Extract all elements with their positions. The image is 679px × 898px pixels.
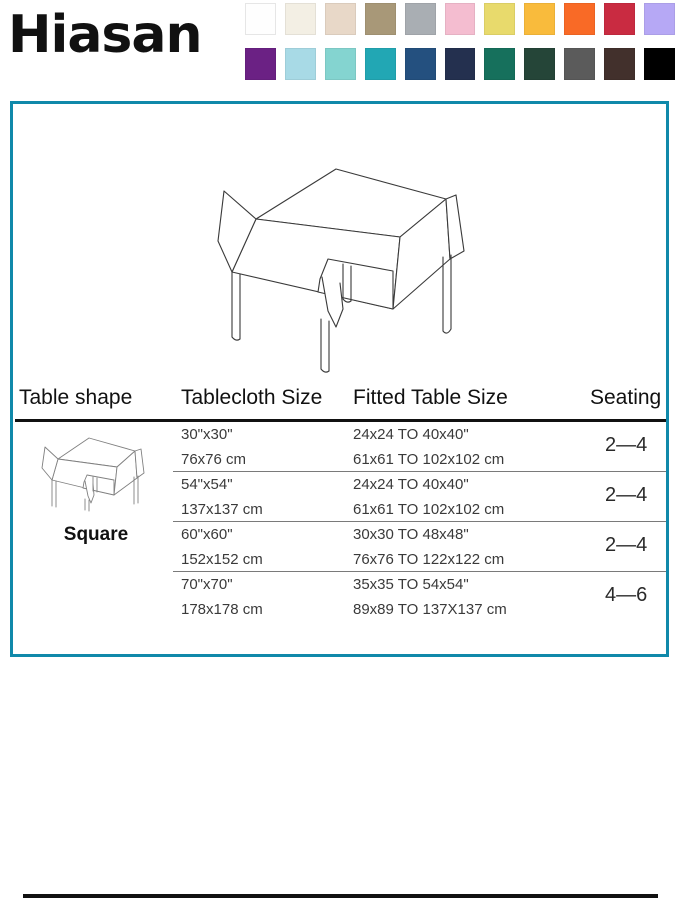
table-bottom-divider xyxy=(23,894,658,898)
color-swatch-white[interactable] xyxy=(245,3,276,35)
cell-tablecloth-inches: 60"x60" xyxy=(181,526,233,543)
color-swatch-light-blue[interactable] xyxy=(285,48,316,80)
cell-seating: 4—6 xyxy=(605,584,647,607)
color-swatch-yellow[interactable] xyxy=(484,3,515,35)
cell-tablecloth-cm: 137x137 cm xyxy=(181,501,263,518)
cell-fitted-cm: 89x89 TO 137X137 cm xyxy=(353,601,507,618)
cell-tablecloth-cm: 152x152 cm xyxy=(181,551,263,568)
color-swatch-dark-brown[interactable] xyxy=(604,48,635,80)
cell-fitted-cm: 61x61 TO 102x102 cm xyxy=(353,451,504,468)
cell-fitted-inches: 30x30 TO 48x48" xyxy=(353,526,469,543)
color-swatch-aqua[interactable] xyxy=(325,48,356,80)
cell-seating: 2—4 xyxy=(605,434,647,457)
column-header-table-shape: Table shape xyxy=(19,386,132,410)
specification-table: Table shape Tablecloth Size Fitted Table… xyxy=(13,384,666,654)
swatch-row-1 xyxy=(245,3,675,35)
column-header-fitted-size: Fitted Table Size xyxy=(353,386,508,410)
cell-tablecloth-inches: 54"x54" xyxy=(181,476,233,493)
cell-seating: 2—4 xyxy=(605,484,647,507)
table-header-row: Table shape Tablecloth Size Fitted Table… xyxy=(13,384,666,420)
color-swatch-teal[interactable] xyxy=(365,48,396,80)
column-header-seating: Seating xyxy=(590,386,661,410)
cell-tablecloth-cm: 76x76 cm xyxy=(181,451,246,468)
color-swatch-orange[interactable] xyxy=(564,3,595,35)
table-row: 60"x60"152x152 cm30x30 TO 48x48"76x76 TO… xyxy=(13,522,666,572)
color-swatch-ivory[interactable] xyxy=(285,3,316,35)
color-swatch-pink[interactable] xyxy=(445,3,476,35)
info-panel: Table shape Tablecloth Size Fitted Table… xyxy=(10,101,669,657)
color-swatch-beige[interactable] xyxy=(325,3,356,35)
color-swatch-charcoal[interactable] xyxy=(564,48,595,80)
table-row: 70"x70"178x178 cm35x35 TO 54x54"89x89 TO… xyxy=(13,572,666,622)
color-swatch-red[interactable] xyxy=(604,3,635,35)
cell-tablecloth-inches: 30"x30" xyxy=(181,426,233,443)
column-header-tablecloth-size: Tablecloth Size xyxy=(181,386,322,410)
table-row: 30"x30"76x76 cm24x24 TO 40x40"61x61 TO 1… xyxy=(13,422,666,472)
cell-fitted-cm: 61x61 TO 102x102 cm xyxy=(353,501,504,518)
color-swatch-gold[interactable] xyxy=(524,3,555,35)
color-swatch-emerald[interactable] xyxy=(484,48,515,80)
color-swatch-purple[interactable] xyxy=(245,48,276,80)
color-swatch-black[interactable] xyxy=(644,48,675,80)
swatch-row-2 xyxy=(245,48,675,80)
cell-fitted-inches: 24x24 TO 40x40" xyxy=(353,426,469,443)
color-swatch-grid xyxy=(245,3,675,83)
table-row: 54"x54"137x137 cm24x24 TO 40x40"61x61 TO… xyxy=(13,472,666,522)
color-swatch-grey[interactable] xyxy=(405,3,436,35)
cell-seating: 2—4 xyxy=(605,534,647,557)
table-body: 30"x30"76x76 cm24x24 TO 40x40"61x61 TO 1… xyxy=(13,422,666,622)
cell-tablecloth-cm: 178x178 cm xyxy=(181,601,263,618)
cell-fitted-inches: 24x24 TO 40x40" xyxy=(353,476,469,493)
square-table-illustration xyxy=(188,159,488,374)
brand-header: Hiasan xyxy=(0,0,679,90)
color-swatch-forest[interactable] xyxy=(524,48,555,80)
cell-fitted-cm: 76x76 TO 122x122 cm xyxy=(353,551,504,568)
brand-logo: Hiasan xyxy=(8,4,202,66)
cell-fitted-inches: 35x35 TO 54x54" xyxy=(353,576,469,593)
color-swatch-taupe[interactable] xyxy=(365,3,396,35)
color-swatch-dark-navy[interactable] xyxy=(445,48,476,80)
color-swatch-navy-blue[interactable] xyxy=(405,48,436,80)
cell-tablecloth-inches: 70"x70" xyxy=(181,576,233,593)
color-swatch-lavender[interactable] xyxy=(644,3,675,35)
